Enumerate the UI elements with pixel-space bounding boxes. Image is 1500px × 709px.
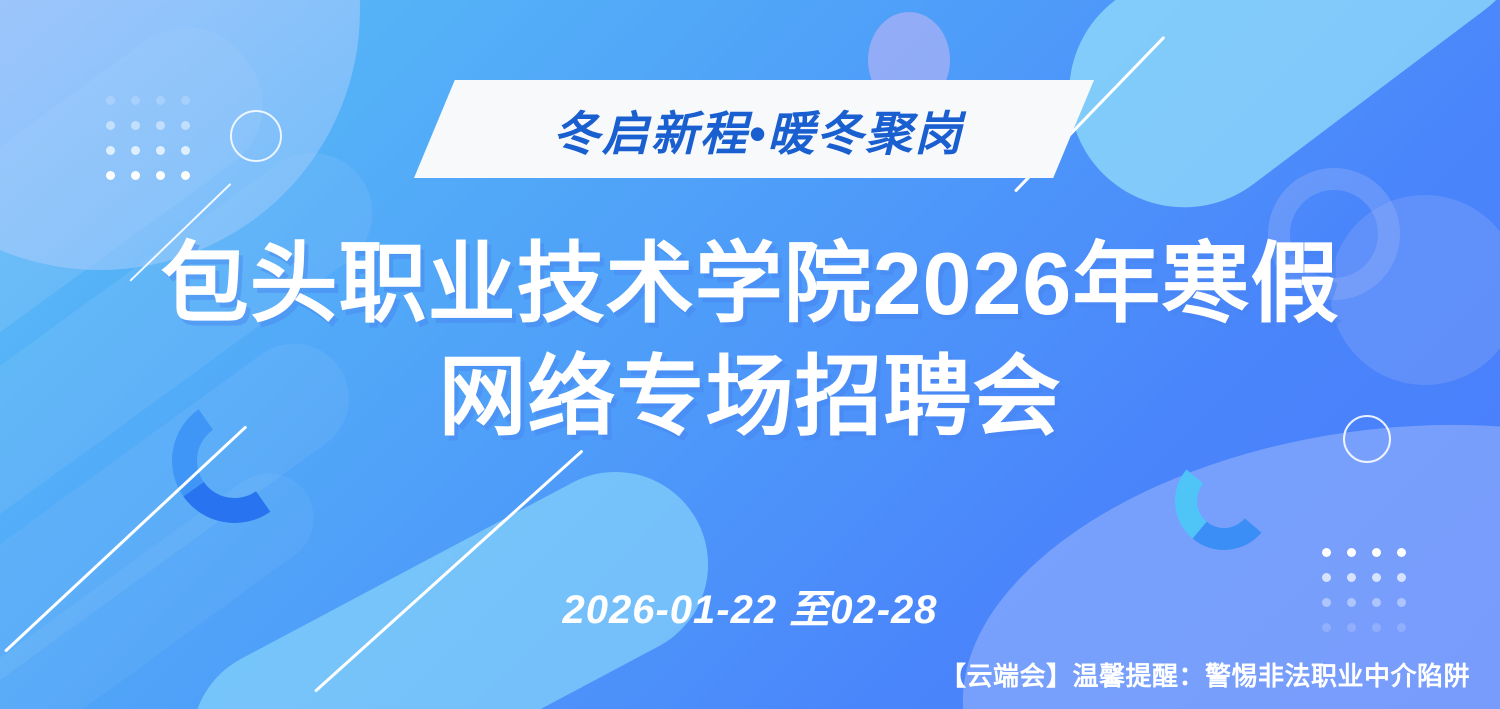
arc-bottom-right-icon [1171, 448, 1277, 554]
dot-grid-top-left-icon [106, 96, 190, 180]
ring-top-left-icon [230, 110, 282, 162]
recruitment-banner: 冬启新程•暖冬聚岗 包头职业技术学院2026年寒假 网络专场招聘会 2026-0… [0, 0, 1500, 709]
capsule-bottom-left-icon [159, 439, 740, 709]
page-title: 包头职业技术学院2026年寒假 网络专场招聘会 [0, 228, 1500, 453]
date-range-text: 2026-01-22 至02-28 [0, 577, 1500, 635]
tagline-banner: 冬启新程•暖冬聚岗 [414, 80, 1094, 178]
title-line-2: 网络专场招聘会 [0, 341, 1500, 454]
warning-notice-text: 【云端会】温馨提醒：警惕非法职业中介陷阱 [940, 656, 1470, 693]
diagonal-streak-icon [314, 449, 584, 692]
tagline-text: 冬启新程•暖冬聚岗 [418, 80, 1098, 178]
title-line-1: 包头职业技术学院2026年寒假 [0, 228, 1500, 341]
